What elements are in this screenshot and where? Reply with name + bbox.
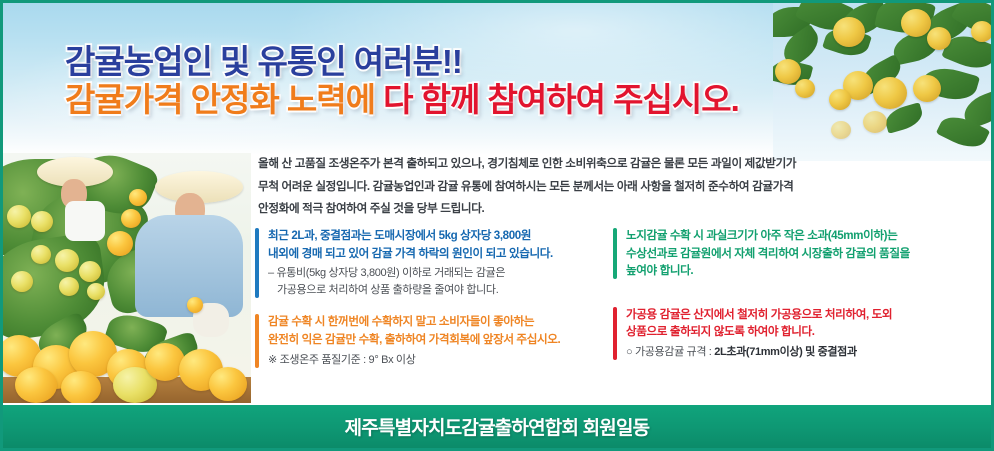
farmers-harvest-photo — [3, 153, 251, 411]
accent-bar-green — [613, 228, 617, 279]
accent-bar-red — [613, 307, 617, 360]
footer-bar: 제주특별자치도감귤출하연합회 회원일동 — [3, 405, 991, 448]
notice-block-processing-use: 가공용 감귤은 산지에서 철저히 가공용으로 처리하여, 도외 상품으로 출하되… — [613, 306, 961, 361]
notice-sub-line-2: 가공용으로 처리하여 상품 출하량을 줄여야 합니다. — [268, 282, 603, 299]
headline-line-1: 감귤농업인 및 유통인 여러분!! — [65, 45, 825, 79]
notice-lead-line-3: 높여야 합니다. — [626, 262, 961, 280]
notices-column-left: 최근 2L과, 중결점과는 도매시장에서 5kg 상자당 3,800원 내외에 … — [255, 227, 603, 369]
notice-lead-line-1: 감귤 수확 시 한꺼번에 수확하지 말고 소비자들이 좋아하는 — [268, 313, 603, 331]
notice-lead-line-1: 가공용 감귤은 산지에서 철저히 가공용으로 처리하여, 도외 — [626, 306, 961, 324]
accent-bar-blue — [255, 228, 259, 298]
headline-line-2-segment-orange: 감귤가격 안정화 노력에 — [65, 81, 383, 118]
notices-column-right: 노지감귤 수확 시 과실크기가 아주 작은 소과(45mm이하)는 수상선과로 … — [613, 227, 961, 361]
accent-bar-orange — [255, 314, 259, 367]
citrus-price-stabilization-banner: 감귤농업인 및 유통인 여러분!! 감귤가격 안정화 노력에 다 함께 참여하여… — [0, 0, 994, 451]
notice-block-price-auction: 최근 2L과, 중결점과는 도매시장에서 5kg 상자당 3,800원 내외에 … — [255, 227, 603, 299]
notice-quality-standard: ※ 조생온주 품질기준 : 9° Bx 이상 — [268, 354, 415, 366]
notice-lead-line-1: 최근 2L과, 중결점과는 도매시장에서 5kg 상자당 3,800원 — [268, 227, 603, 245]
notice-lead-line-2: 내외에 경매 되고 있어 감귤 가격 하락의 원인이 되고 있습니다. — [268, 245, 603, 263]
organization-name: 제주특별자치도감귤출하연합회 회원일동 — [345, 413, 650, 440]
notices-section: 최근 2L과, 중결점과는 도매시장에서 5kg 상자당 3,800원 내외에 … — [255, 227, 971, 399]
notice-sub-text: ※ 조생온주 품질기준 : 9° Bx 이상 — [268, 352, 603, 369]
intro-line-3: 안정화에 적극 참여하여 주실 것을 당부 드립니다. — [258, 198, 958, 221]
notice-lead-line-2: 수상선과로 감귤원에서 자체 격리하여 시장출하 감귤의 품질을 — [626, 245, 961, 263]
notice-spec-value: 2L초과(71mm이상) 및 중결점과 — [714, 346, 857, 358]
notice-sub-text: – 유통비(5kg 상자당 3,800원) 이하로 거래되는 감귤은 가공용으로… — [268, 265, 603, 299]
notice-lead-line-2: 상품으로 출하되지 않도록 하여야 합니다. — [626, 323, 961, 341]
notice-block-harvest-timing: 감귤 수확 시 한꺼번에 수확하지 말고 소비자들이 좋아하는 완전히 익은 감… — [255, 313, 603, 368]
notice-sub-text: ○ 가공용감귤 규격 : 2L초과(71mm이상) 및 중결점과 — [626, 344, 961, 361]
notice-spec-prefix: ○ 가공용감귤 규격 : — [626, 346, 714, 358]
headline: 감귤농업인 및 유통인 여러분!! 감귤가격 안정화 노력에 다 함께 참여하여… — [65, 45, 825, 118]
notice-lead-line-1: 노지감귤 수확 시 과실크기가 아주 작은 소과(45mm이하)는 — [626, 227, 961, 245]
intro-line-2: 무척 어려운 실정입니다. 감귤농업인과 감귤 유통에 참여하시는 모든 분께서… — [258, 176, 958, 199]
notice-block-small-fruit-isolation: 노지감귤 수확 시 과실크기가 아주 작은 소과(45mm이하)는 수상선과로 … — [613, 227, 961, 280]
intro-line-1: 올해 산 고품질 조생온주가 본격 출하되고 있으나, 경기침체로 인한 소비위… — [258, 153, 958, 176]
headline-line-2: 감귤가격 안정화 노력에 다 함께 참여하여 주십시오. — [65, 83, 825, 117]
headline-line-1-segment: 감귤농업인 및 유통인 여러분!! — [65, 43, 462, 80]
headline-line-2-segment-red: 다 함께 참여하여 주십시오. — [383, 81, 739, 118]
notice-sub-line-1: – 유통비(5kg 상자당 3,800원) 이하로 거래되는 감귤은 — [268, 267, 505, 279]
notice-lead-line-2: 완전히 익은 감귤만 수확, 출하하여 가격회복에 앞장서 주십시오. — [268, 331, 603, 349]
intro-paragraph: 올해 산 고품질 조생온주가 본격 출하되고 있으나, 경기침체로 인한 소비위… — [258, 153, 958, 221]
